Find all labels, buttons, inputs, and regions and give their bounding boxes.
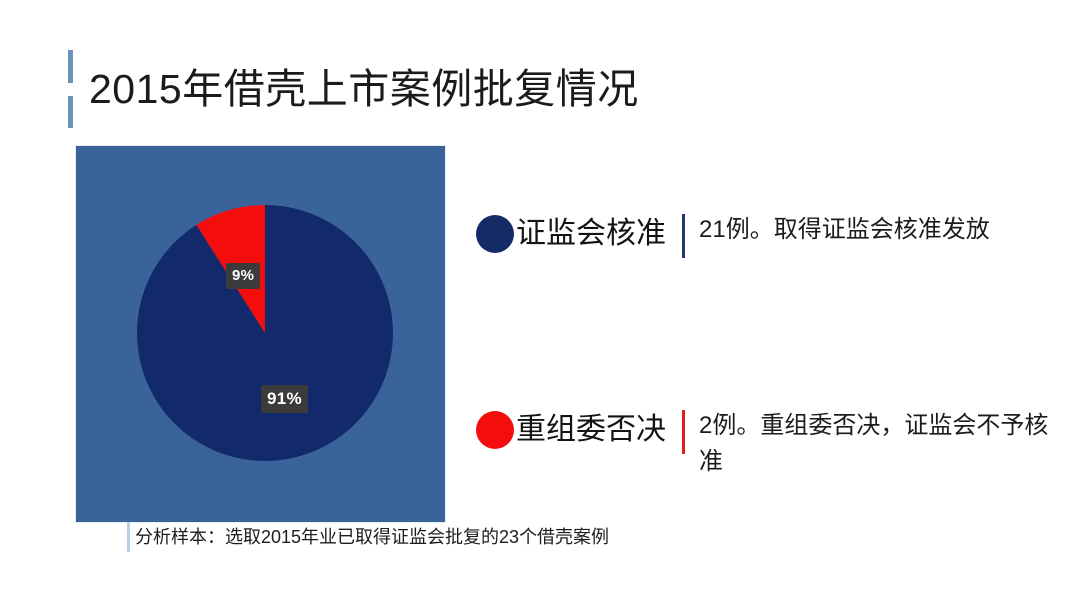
- page-title: 2015年借壳上市案例批复情况: [89, 50, 639, 128]
- legend-divider-rejected: [682, 410, 685, 454]
- title-accent-segment-top: [68, 50, 73, 83]
- legend-item-rejected[interactable]: 重组委否决 2例。重组委否决，证监会不予核准: [476, 408, 1066, 480]
- legend-label-approved: 证监会核准: [516, 212, 666, 255]
- title-accent-segment-bottom: [68, 96, 73, 129]
- pie-slice-approved[interactable]: [137, 205, 393, 461]
- footnote: 分析样本：选取2015年业已取得证监会批复的23个借壳案例: [127, 522, 609, 552]
- pie-chart: 9% 91%: [76, 146, 445, 522]
- legend-description-rejected: 2例。重组委否决，证监会不予核准: [699, 408, 1055, 480]
- legend-swatch-approved-icon: [476, 215, 514, 253]
- legend-label-rejected: 重组委否决: [516, 408, 666, 451]
- pie-label-approved: 91%: [261, 385, 308, 413]
- title-accent-bar: [68, 50, 73, 128]
- legend-item-approved[interactable]: 证监会核准 21例。取得证监会核准发放: [476, 212, 1066, 258]
- footnote-accent-bar: [127, 522, 130, 552]
- pie-label-rejected: 9%: [226, 263, 260, 289]
- legend-divider-approved: [682, 214, 685, 258]
- pie-chart-svg: [76, 146, 445, 522]
- footnote-text: 分析样本：选取2015年业已取得证监会批复的23个借壳案例: [135, 522, 609, 552]
- legend-description-approved: 21例。取得证监会核准发放: [699, 212, 1055, 248]
- page-title-block: 2015年借壳上市案例批复情况: [68, 50, 639, 128]
- legend-swatch-rejected-icon: [476, 411, 514, 449]
- chart-panel: 9% 91%: [76, 146, 445, 522]
- title-accent-gap: [68, 83, 73, 96]
